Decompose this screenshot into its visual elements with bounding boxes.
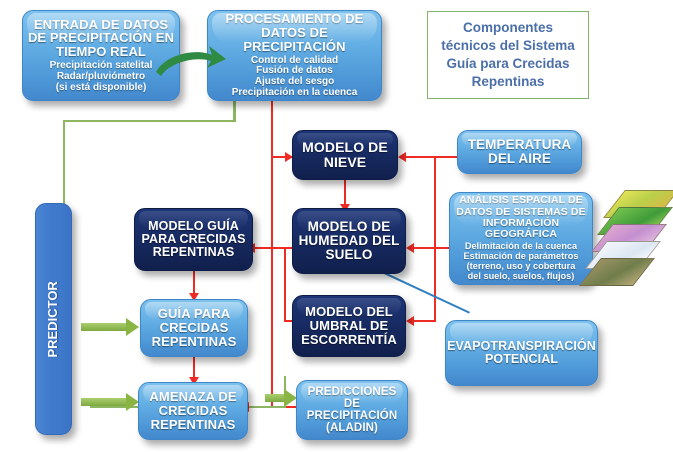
node-entrada-datos-sub: Precipitación satelital Radar/pluviómetr… <box>50 61 153 93</box>
green-arrow-to-predicciones <box>265 389 299 407</box>
node-modelo-guia-crecidas-title: MODELO GUÍA PARA CRECIDAS REPENTINAS <box>138 220 249 260</box>
swoosh-arrow-icon <box>152 38 228 82</box>
node-amenaza-crecidas[interactable]: AMENAZA DE CRECIDAS REPENTINAS <box>138 382 248 440</box>
connector-temperatura-to-nieve <box>404 156 458 158</box>
legend-text: Componentes técnicos del Sistema Guía pa… <box>436 19 580 91</box>
node-predictor-vertical-text: PREDICTOR <box>15 204 91 434</box>
arrowhead-left-humedad <box>406 243 414 253</box>
connector-predictor-to-procesamiento-left-vert <box>63 120 65 210</box>
node-predicciones-precipitacion-title: PREDICCIONES DE PRECIPITACIÓN (ALADIN) <box>300 386 404 435</box>
node-evapotranspiracion-potencial-title: EVAPOTRANSPIRACIÓN POTENCIAL <box>447 340 596 367</box>
connector-procesamiento-trunk-vertical <box>271 101 273 407</box>
node-amenaza-crecidas-title: AMENAZA DE CRECIDAS REPENTINAS <box>142 390 244 431</box>
map-layer-stack-icon <box>588 190 664 286</box>
connector-humedad-to-modelo-guia <box>253 247 293 249</box>
node-modelo-nieve[interactable]: MODELO DE NIEVE <box>292 130 398 180</box>
arrowhead-left-umbral <box>406 316 414 326</box>
node-modelo-humedad-suelo[interactable]: MODELO DE HUMEDAD DEL SUELO <box>292 208 406 274</box>
flowchart-diagram: ENTRADA DE DATOS DE PRECIPITACIÓN EN TIE… <box>0 0 673 452</box>
node-modelo-guia-crecidas[interactable]: MODELO GUÍA PARA CRECIDAS REPENTINAS <box>134 208 253 271</box>
node-analisis-espacial-gis-title: ANÁLISIS ESPACIAL DE DATOS DE SISTEMAS D… <box>453 195 589 240</box>
node-guia-crecidas[interactable]: GUÍA PARA CRECIDAS REPENTINAS <box>140 299 248 357</box>
node-modelo-nieve-title: MODELO DE NIEVE <box>293 140 397 170</box>
connector-predictor-to-procesamiento-right-vert <box>233 100 236 122</box>
node-predicciones-precipitacion[interactable]: PREDICCIONES DE PRECIPITACIÓN (ALADIN) <box>296 380 408 440</box>
node-procesamiento-datos-title: PROCESAMIENTO DE DATOS DE PRECIPITACIÓN <box>211 12 378 53</box>
node-analisis-espacial-gis-sub: Delimitación de la cuenca Estimación de … <box>464 242 579 282</box>
connector-right-riser-to-umbral <box>412 320 436 322</box>
node-predictor[interactable]: PREDICTOR <box>35 203 72 435</box>
node-temperatura-aire-title: TEMPERATURA DEL AIRE <box>458 138 581 167</box>
node-temperatura-aire[interactable]: TEMPERATURA DEL AIRE <box>457 130 582 174</box>
node-guia-crecidas-title: GUÍA PARA CRECIDAS REPENTINAS <box>144 307 244 348</box>
node-modelo-umbral-escorrentia-title: MODELO DEL UMBRAL DE ESCORRENTÍA <box>296 305 402 346</box>
node-modelo-humedad-suelo-title: MODELO DE HUMEDAD DEL SUELO <box>296 220 402 263</box>
node-analisis-espacial-gis[interactable]: ANÁLISIS ESPACIAL DE DATOS DE SISTEMAS D… <box>449 192 593 285</box>
node-modelo-umbral-escorrentia[interactable]: MODELO DEL UMBRAL DE ESCORRENTÍA <box>292 295 406 357</box>
connector-umbral-riser-vertical <box>284 247 286 321</box>
node-predictor-title: PREDICTOR <box>41 281 66 357</box>
node-procesamiento-datos-sub: Control de calidad Fusión de datos Ajust… <box>232 56 358 99</box>
arrowhead-left-modelo-nieve <box>398 152 406 162</box>
node-procesamiento-datos[interactable]: PROCESAMIENTO DE DATOS DE PRECIPITACIÓN … <box>207 10 382 101</box>
node-evapotranspiracion-potencial[interactable]: EVAPOTRANSPIRACIÓN POTENCIAL <box>445 320 598 386</box>
legend-panel: Componentes técnicos del Sistema Guía pa… <box>427 11 589 99</box>
connector-predictor-to-procesamiento-horizontal <box>63 120 235 122</box>
